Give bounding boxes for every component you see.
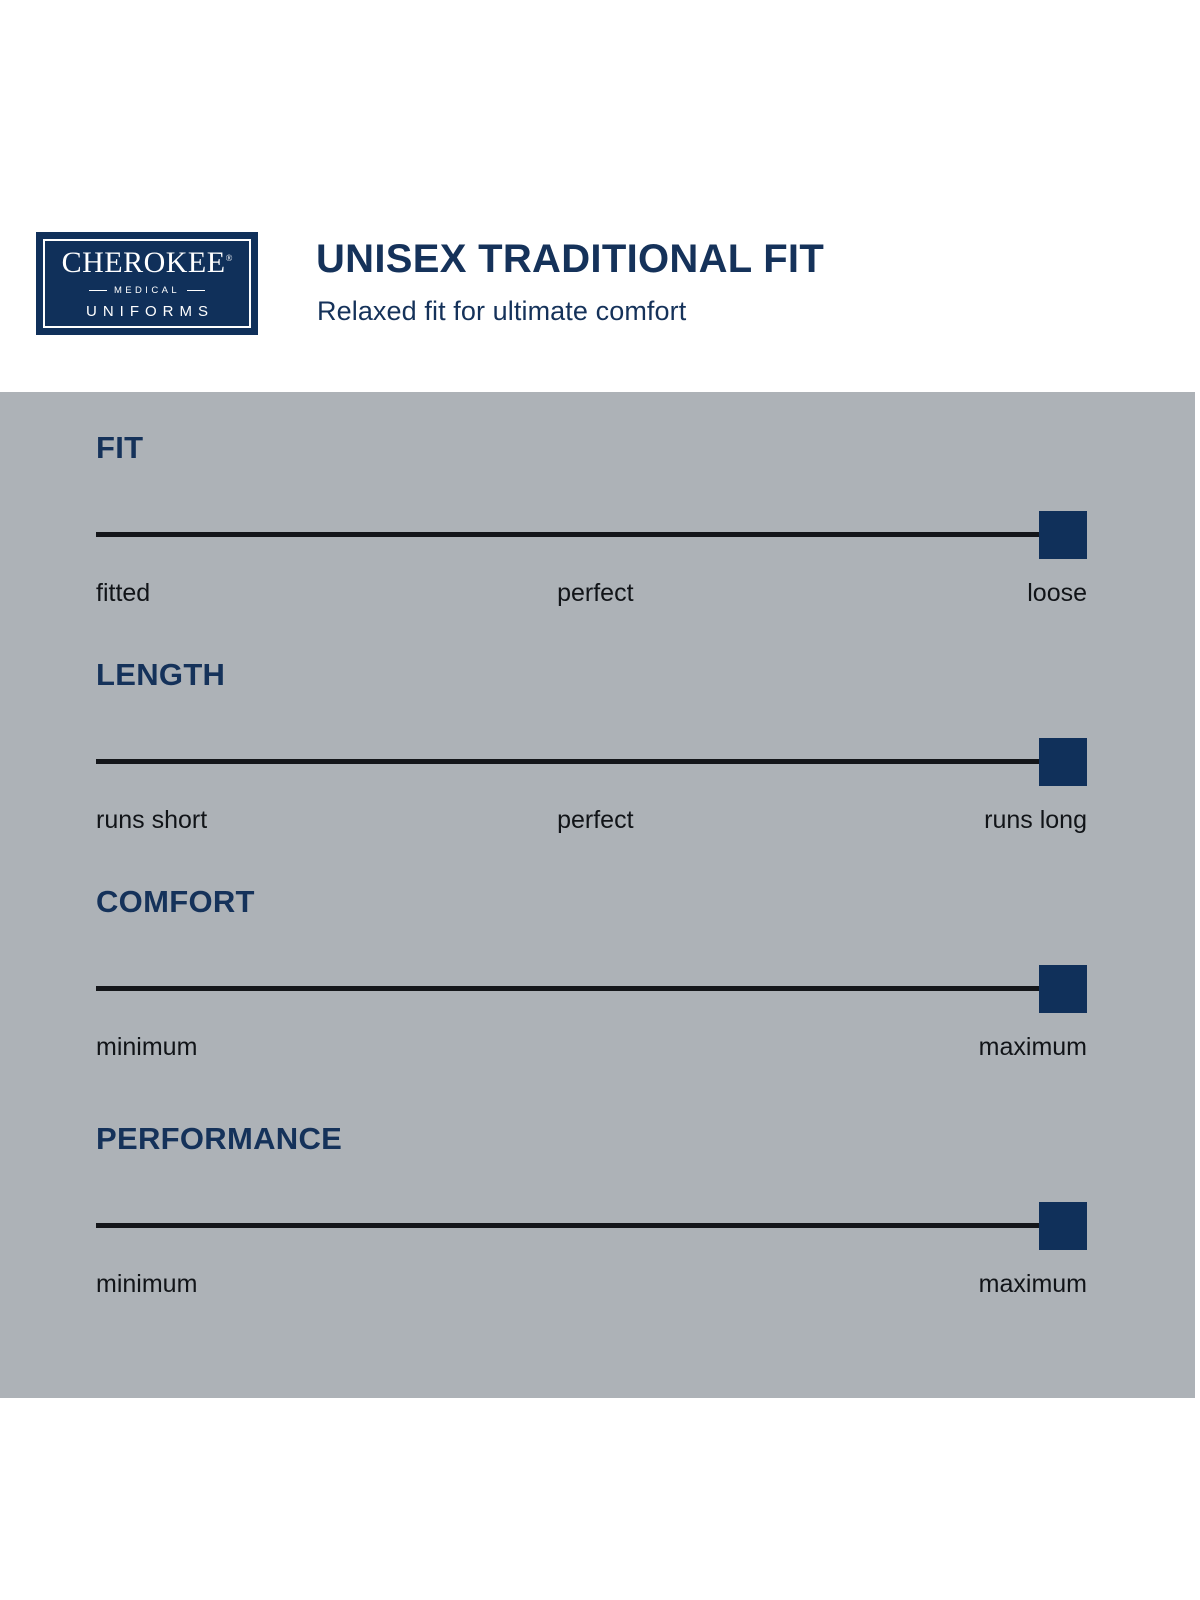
fit-slider[interactable] bbox=[96, 511, 1087, 559]
slider-marker[interactable] bbox=[1039, 1202, 1087, 1250]
logo-medical-text: MEDICAL bbox=[114, 286, 180, 296]
metric-comfort: COMFORT minimum maximum bbox=[96, 886, 1087, 1066]
slider-label-row: runs short perfect runs long bbox=[96, 805, 1087, 839]
cherokee-logo: CHEROKEE® MEDICAL UNIFORMS bbox=[36, 232, 258, 335]
length-slider[interactable] bbox=[96, 738, 1087, 786]
header: CHEROKEE® MEDICAL UNIFORMS UNISEX TRADIT… bbox=[0, 0, 1200, 392]
slider-label-middle: perfect bbox=[557, 805, 633, 835]
metric-title: COMFORT bbox=[96, 886, 1087, 917]
slider-label-end: loose bbox=[1027, 578, 1087, 608]
metric-length: LENGTH runs short perfect runs long bbox=[96, 659, 1087, 839]
slider-track bbox=[96, 986, 1087, 991]
logo-brand-name: CHEROKEE® bbox=[62, 248, 233, 278]
fit-scales-panel: FIT fitted perfect loose LENGTH runs sho… bbox=[0, 392, 1195, 1398]
slider-label-end: maximum bbox=[979, 1269, 1087, 1299]
slider-label-end: maximum bbox=[979, 1032, 1087, 1062]
metric-title: LENGTH bbox=[96, 659, 1087, 690]
logo-uniforms-text: UNIFORMS bbox=[80, 304, 214, 319]
slider-marker[interactable] bbox=[1039, 738, 1087, 786]
slider-label-row: minimum maximum bbox=[96, 1032, 1087, 1066]
slider-label-start: minimum bbox=[96, 1269, 197, 1299]
slider-track bbox=[96, 759, 1087, 764]
logo-brand-text: CHEROKEE bbox=[62, 246, 226, 279]
slider-label-start: fitted bbox=[96, 578, 150, 608]
slider-label-row: fitted perfect loose bbox=[96, 578, 1087, 612]
registered-trademark-icon: ® bbox=[226, 253, 233, 263]
slider-label-middle: perfect bbox=[557, 578, 633, 608]
metric-title: PERFORMANCE bbox=[96, 1123, 1087, 1154]
slider-track bbox=[96, 1223, 1087, 1228]
fit-guide-page: CHEROKEE® MEDICAL UNIFORMS UNISEX TRADIT… bbox=[0, 0, 1200, 1600]
page-title: UNISEX TRADITIONAL FIT bbox=[316, 238, 824, 280]
slider-label-start: minimum bbox=[96, 1032, 197, 1062]
logo-rule-left-icon bbox=[89, 290, 107, 292]
slider-label-end: runs long bbox=[984, 805, 1087, 835]
slider-track bbox=[96, 532, 1087, 537]
slider-label-start: runs short bbox=[96, 805, 207, 835]
page-subtitle: Relaxed fit for ultimate comfort bbox=[317, 297, 686, 327]
metric-title: FIT bbox=[96, 432, 1087, 463]
slider-marker[interactable] bbox=[1039, 965, 1087, 1013]
comfort-slider[interactable] bbox=[96, 965, 1087, 1013]
logo-rule-right-icon bbox=[187, 290, 205, 292]
performance-slider[interactable] bbox=[96, 1202, 1087, 1250]
logo-medical-line: MEDICAL bbox=[89, 286, 205, 296]
slider-marker[interactable] bbox=[1039, 511, 1087, 559]
logo-inner-border: CHEROKEE® MEDICAL UNIFORMS bbox=[43, 239, 251, 328]
slider-label-row: minimum maximum bbox=[96, 1269, 1087, 1303]
metric-performance: PERFORMANCE minimum maximum bbox=[96, 1123, 1087, 1303]
metric-fit: FIT fitted perfect loose bbox=[96, 432, 1087, 612]
